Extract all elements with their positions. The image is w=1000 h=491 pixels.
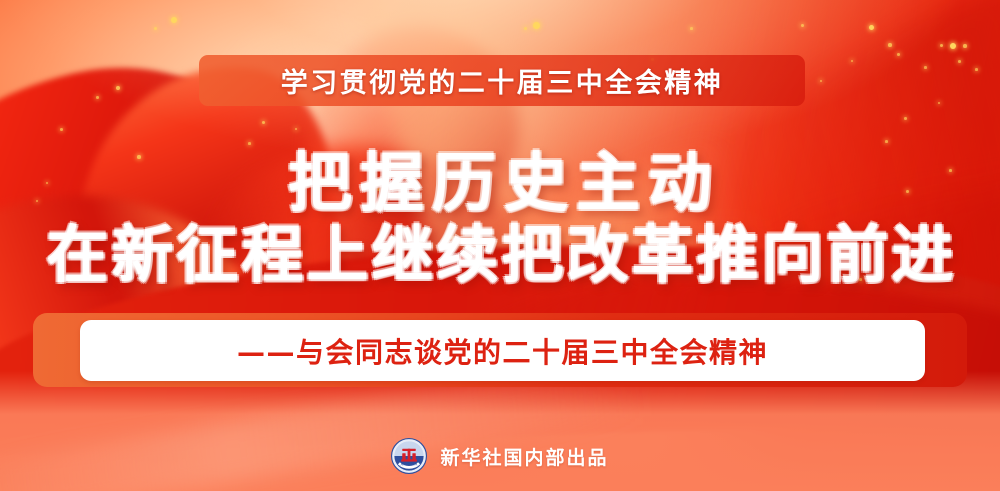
sparkle-dot: [888, 43, 892, 47]
sparkle-dot: [533, 22, 540, 29]
sparkle-dot: [975, 68, 978, 71]
sparkle-dot: [96, 96, 99, 99]
sparkle-dot: [924, 66, 927, 69]
sparkle-dot: [904, 117, 907, 120]
sparkle-dot: [171, 17, 177, 23]
headline-line-1: 把握历史主动: [0, 152, 1000, 216]
headline-block: 把握历史主动 在新征程上继续把改革推向前进: [0, 152, 1000, 286]
poster-canvas: 学习贯彻党的二十届三中全会精神 把握历史主动 在新征程上继续把改革推向前进 ——…: [0, 0, 1000, 491]
headline-line-2: 在新征程上继续把改革推向前进: [0, 224, 1000, 286]
subtitle-label: ——与会同志谈党的二十届三中全会精神: [237, 331, 768, 371]
sparkle-dot: [116, 86, 120, 90]
xinhua-news-agency-logo-icon: XINHUA: [391, 438, 427, 474]
sparkle-dot: [897, 53, 900, 56]
sparkle-dot: [801, 24, 804, 27]
sparkle-dot: [958, 60, 961, 63]
sparkle-dot: [950, 43, 956, 49]
top-banner: 学习贯彻党的二十届三中全会精神: [199, 55, 805, 106]
sparkle-dot: [60, 128, 63, 131]
svg-text:XINHUA: XINHUA: [401, 462, 418, 467]
sparkle-dot: [885, 140, 888, 143]
footer-label: 新华社国内部出品: [440, 443, 608, 470]
subtitle-bar: ——与会同志谈党的二十届三中全会精神: [80, 320, 925, 381]
sparkle-dot: [690, 27, 693, 30]
footer: XINHUA 新华社国内部出品: [0, 436, 1000, 476]
sparkle-dot: [154, 27, 157, 30]
sparkle-dot: [248, 142, 251, 145]
sparkle-dot: [963, 44, 967, 48]
top-banner-label: 学习贯彻党的二十届三中全会精神: [281, 61, 724, 100]
